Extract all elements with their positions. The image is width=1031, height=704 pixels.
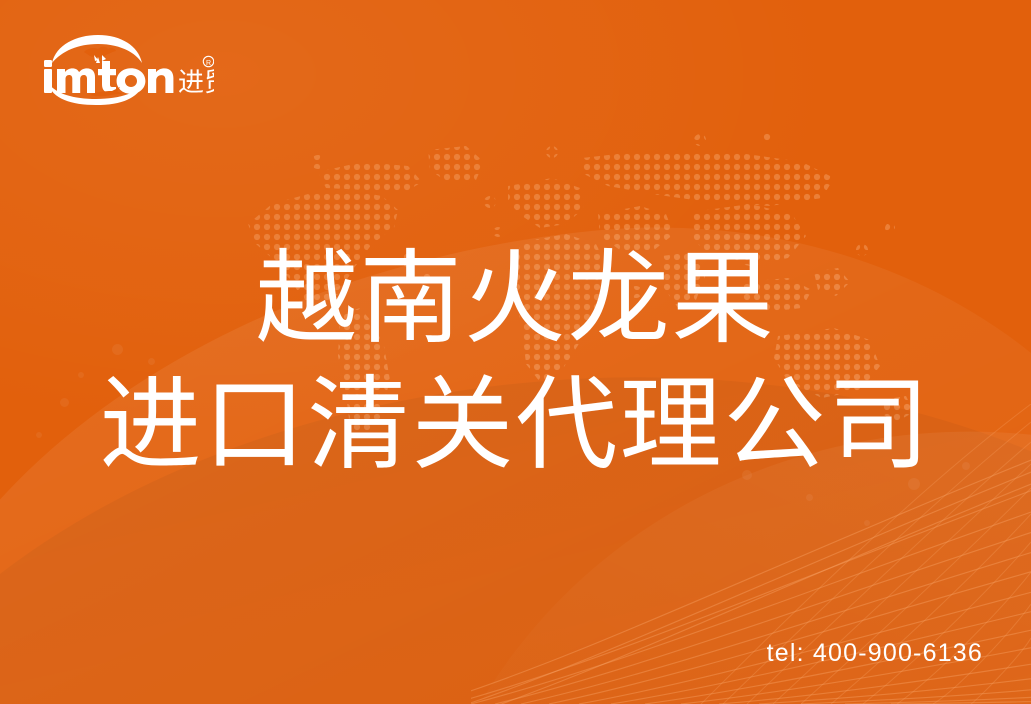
background-fill — [0, 0, 1031, 704]
globe-arc-icon — [52, 35, 142, 63]
brand-logo[interactable]: 进贸通 R — [38, 33, 214, 105]
promo-banner: 进贸通 R 越南火龙果 进口清关代理公司 tel: 400-900-6136 — [0, 0, 1031, 704]
contact-phone[interactable]: tel: 400-900-6136 — [767, 639, 983, 668]
svg-text:R: R — [206, 60, 211, 67]
logo-wordmark-shapes — [44, 60, 173, 94]
logo-chinese-name: 进贸通 — [178, 67, 214, 97]
registered-mark-icon: R — [203, 56, 213, 67]
